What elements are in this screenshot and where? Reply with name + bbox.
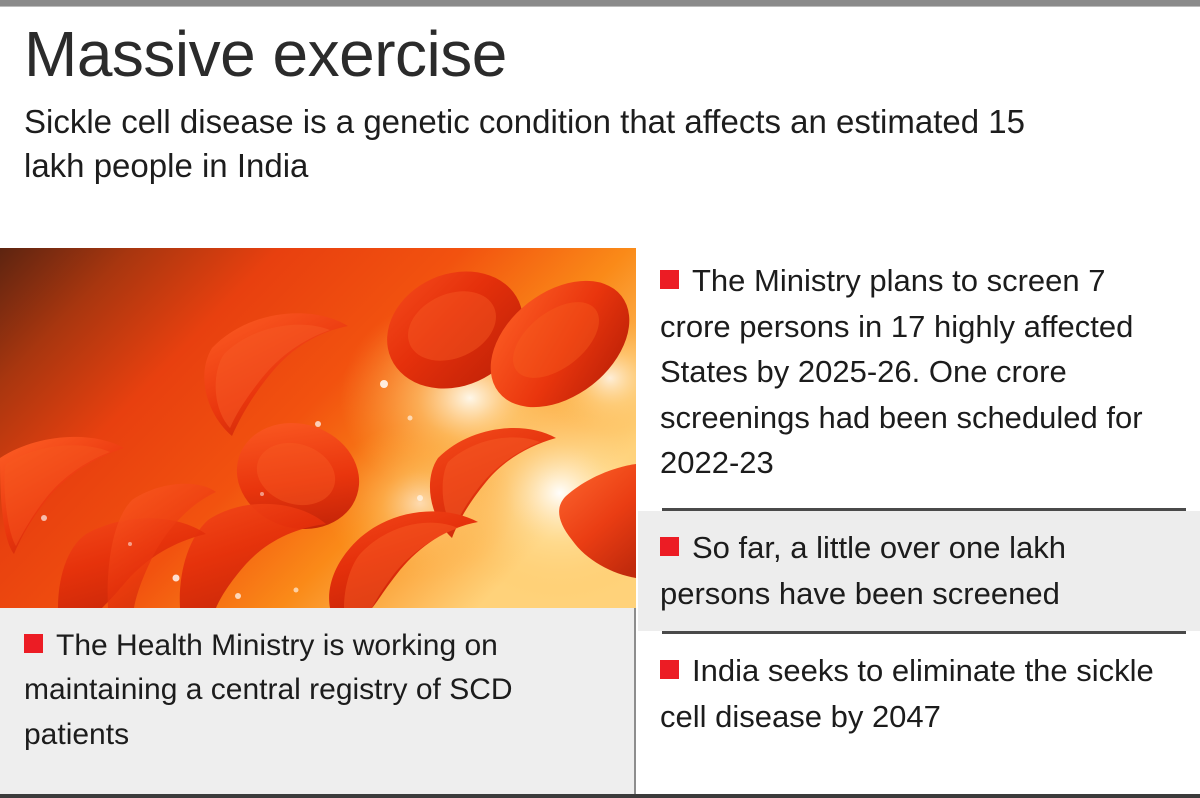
bullet-text-1: The Ministry plans to screen 7 crore per… <box>660 263 1143 480</box>
bullet-paragraph: The Ministry plans to screen 7 crore per… <box>660 258 1184 486</box>
blood-cells-illustration <box>0 248 636 608</box>
left-caption-panel: The Health Ministry is working on mainta… <box>0 608 636 794</box>
page-title: Massive exercise <box>24 22 1174 86</box>
bullet-paragraph: So far, a little over one lakh persons h… <box>660 525 1184 616</box>
list-item: The Ministry plans to screen 7 crore per… <box>638 248 1200 508</box>
infographic-card: Massive exercise Sickle cell disease is … <box>0 0 1200 798</box>
red-square-bullet-icon <box>660 270 679 289</box>
list-item: So far, a little over one lakh persons h… <box>638 511 1200 631</box>
header: Massive exercise Sickle cell disease is … <box>24 22 1174 188</box>
list-item: India seeks to eliminate the sickle cell… <box>638 634 1200 754</box>
bottom-divider-rule <box>0 794 1200 798</box>
bullet-text-2: So far, a little over one lakh persons h… <box>660 530 1066 611</box>
red-square-bullet-icon <box>660 660 679 679</box>
top-divider-rule <box>0 0 1200 7</box>
subtitle: Sickle cell disease is a genetic conditi… <box>24 100 1034 188</box>
bullet-paragraph: India seeks to eliminate the sickle cell… <box>660 648 1184 739</box>
red-square-bullet-icon <box>660 537 679 556</box>
right-column: The Ministry plans to screen 7 crore per… <box>638 248 1200 794</box>
red-square-bullet-icon <box>24 634 43 653</box>
list-item: The Health Ministry is working on mainta… <box>24 624 614 757</box>
blood-cells-svg <box>0 248 636 608</box>
bullet-text-3: India seeks to eliminate the sickle cell… <box>660 653 1154 734</box>
left-caption-text: The Health Ministry is working on mainta… <box>24 629 513 751</box>
